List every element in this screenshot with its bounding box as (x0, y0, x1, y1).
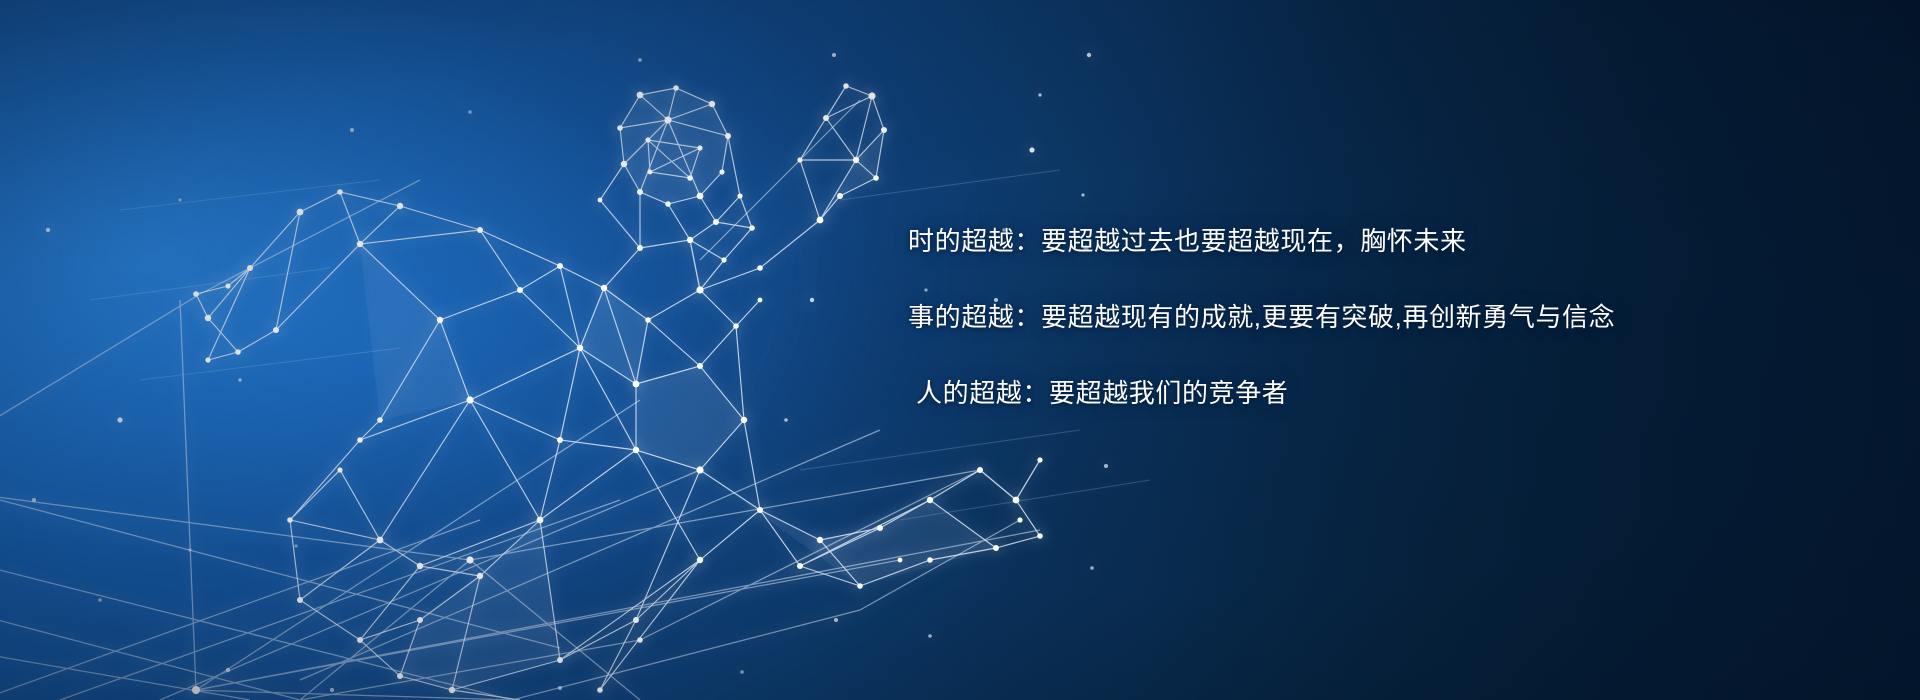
slogan-line-1: 时的超越：要超越过去也要超越现在，胸怀未来 (908, 228, 1808, 254)
slogan-line-2: 事的超越：要超越现有的成就,更要有突破,再创新勇气与信念 (908, 304, 1808, 330)
hero-banner: 时的超越：要超越过去也要超越现在，胸怀未来 事的超越：要超越现有的成就,更要有突… (0, 0, 1920, 700)
slogan-line-3: 人的超越：要超越我们的竞争者 (916, 380, 1808, 406)
slogan-block: 时的超越：要超越过去也要超越现在，胸怀未来 事的超越：要超越现有的成就,更要有突… (908, 228, 1808, 406)
